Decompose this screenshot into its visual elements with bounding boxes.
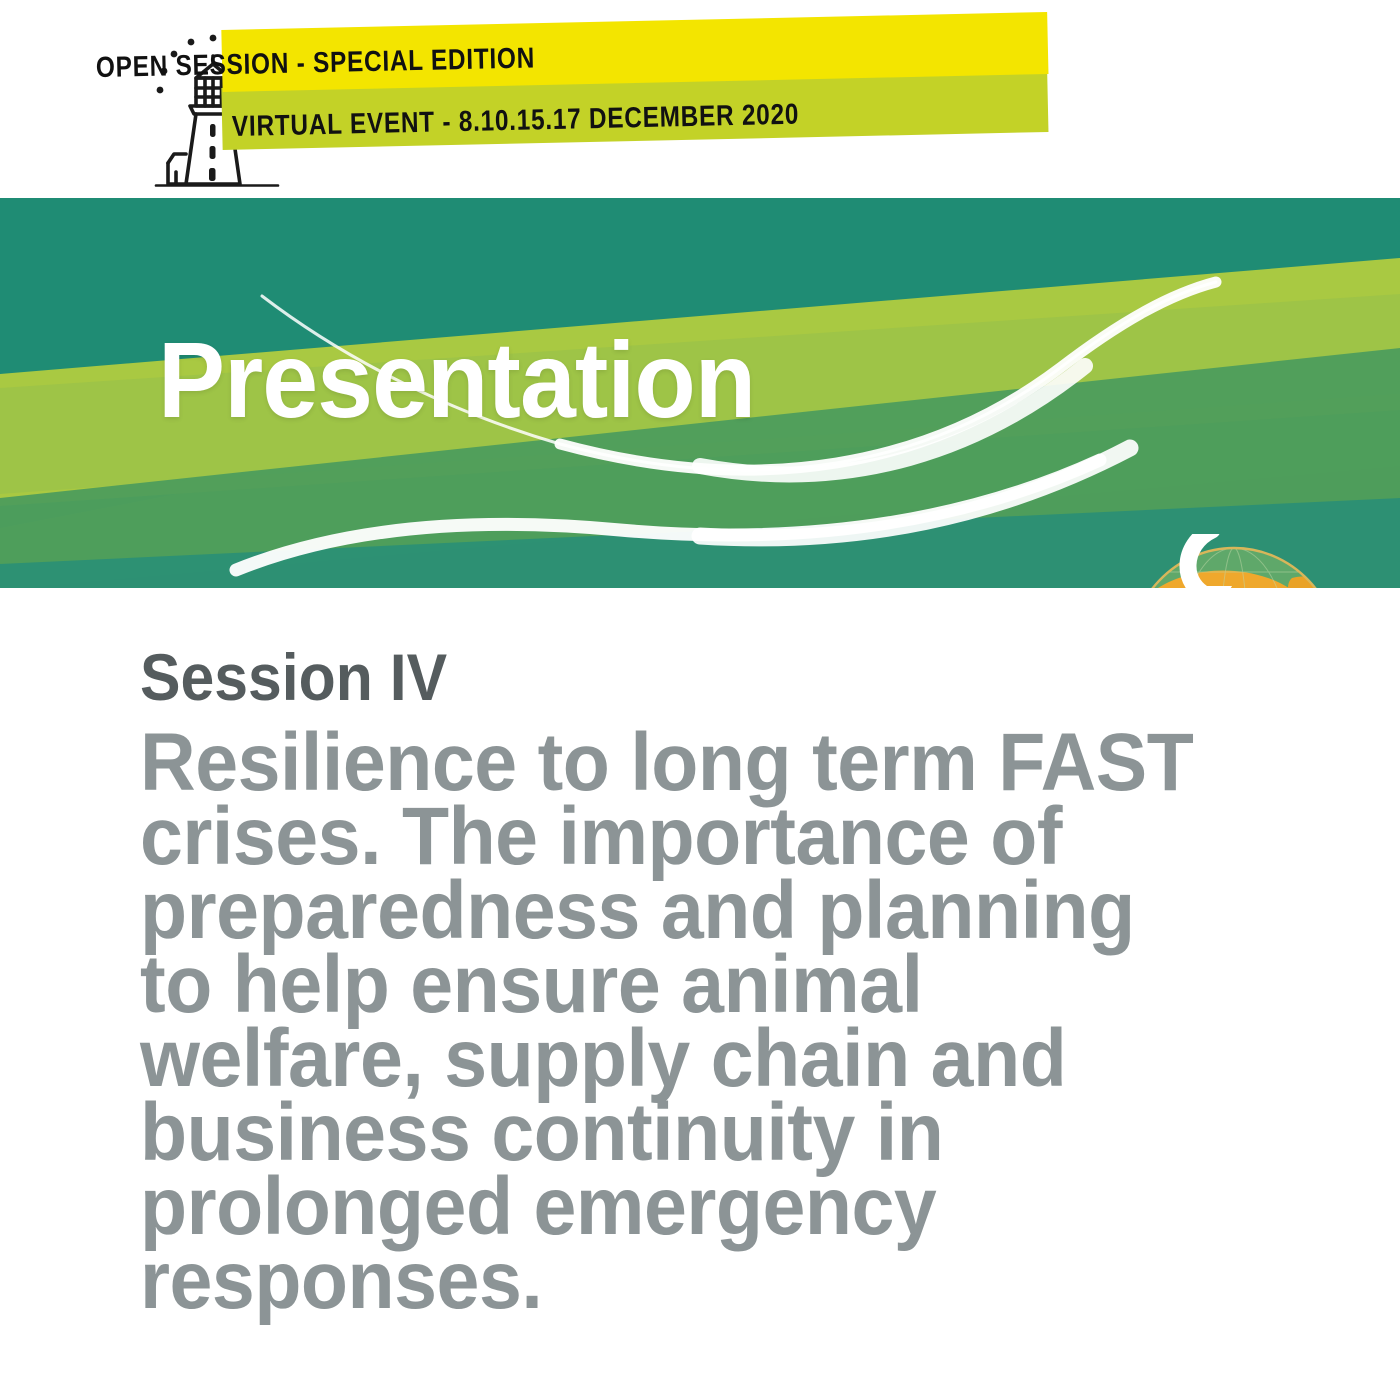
event-header: OPEN SESSION - SPECIAL EDITION VIRTUAL E… bbox=[0, 0, 1400, 198]
presentation-banner: Presentation Livelihoods @ risk in a FAS… bbox=[0, 198, 1400, 588]
session-number-heading: Session IV bbox=[140, 644, 1299, 710]
globe-graphic bbox=[1116, 534, 1356, 588]
session-description: Resilience to long term FAST crises. The… bbox=[140, 726, 1202, 1318]
session-body: Session IV Resilience to long term FAST … bbox=[0, 588, 1400, 1400]
banner-title: Presentation bbox=[158, 326, 755, 434]
